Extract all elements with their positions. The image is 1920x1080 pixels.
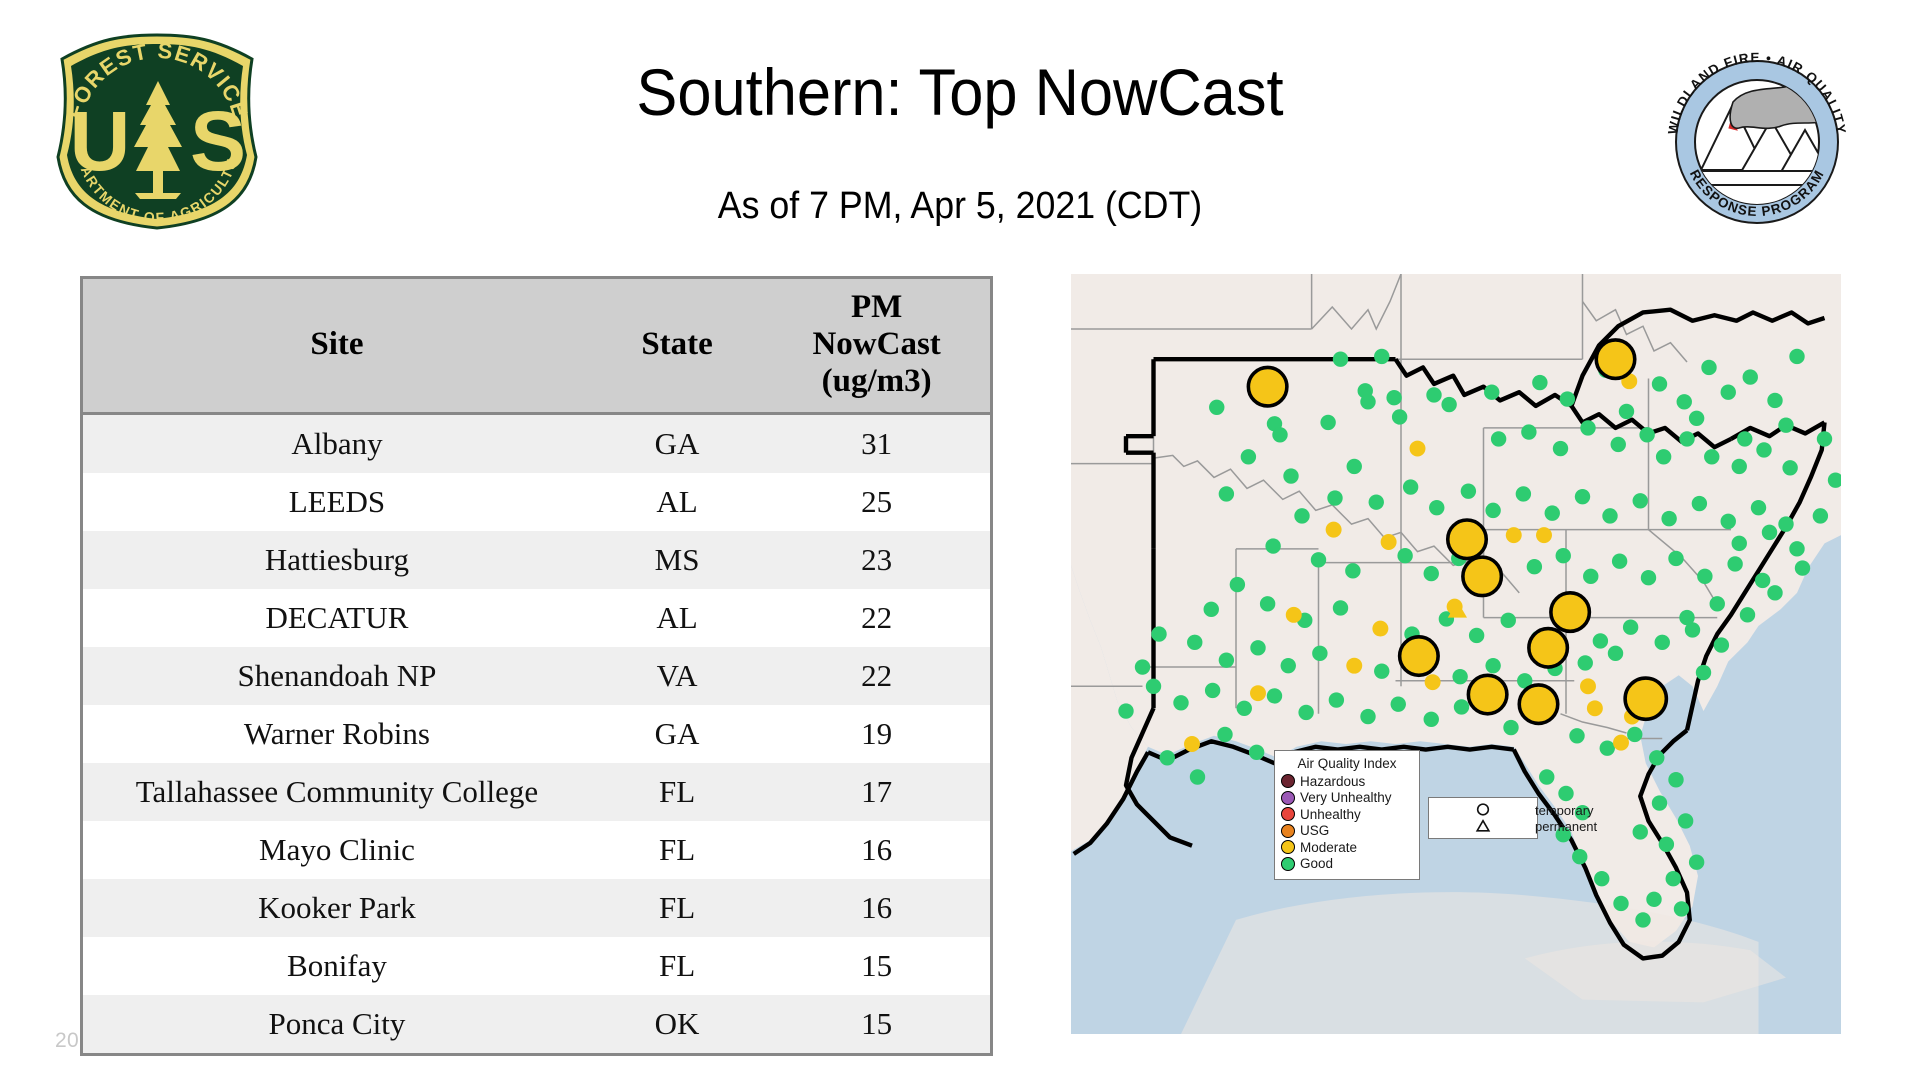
aqi-legend-items: HazardousVery UnhealthyUnhealthyUSGModer… (1281, 773, 1413, 872)
site-marker-good[interactable] (1187, 635, 1202, 650)
site-marker-good[interactable] (1689, 411, 1704, 426)
site-marker-good[interactable] (1569, 728, 1584, 743)
aqi-legend-label: Very Unhealthy (1300, 791, 1392, 805)
site-marker-good[interactable] (1298, 705, 1313, 720)
site-marker-good[interactable] (1241, 449, 1256, 464)
site-marker-good[interactable] (1391, 696, 1406, 711)
site-marker-good[interactable] (1692, 496, 1707, 511)
site-marker-top[interactable] (1519, 685, 1558, 723)
state-cell: FL (591, 937, 763, 995)
data-table: Site State PM NowCast (ug/m3) AlbanyGA31… (83, 279, 990, 1053)
state-cell: FL (591, 879, 763, 937)
site-marker-good[interactable] (1613, 896, 1628, 911)
table-body: AlbanyGA31LEEDSAL25HattiesburgMS23DECATU… (83, 413, 990, 1053)
site-marker-good[interactable] (1501, 613, 1516, 628)
legend-temporary: temporary (1434, 802, 1532, 818)
site-cell: DECATUR (83, 589, 591, 647)
site-marker-good[interactable] (1727, 556, 1742, 571)
site-marker-good[interactable] (1668, 772, 1683, 787)
aqi-legend-label: Moderate (1300, 841, 1357, 855)
site-marker-good[interactable] (1560, 391, 1575, 406)
site-marker-good[interactable] (1267, 688, 1282, 703)
aqi-legend-item: USG (1281, 823, 1413, 840)
site-marker-good[interactable] (1674, 901, 1689, 916)
site-marker-good[interactable] (1704, 449, 1719, 464)
site-marker-good[interactable] (1190, 769, 1205, 784)
site-marker-good[interactable] (1347, 459, 1362, 474)
pm-cell: 31 (763, 413, 990, 473)
site-marker-good[interactable] (1151, 626, 1166, 641)
site-marker-good[interactable] (1659, 837, 1674, 852)
wfaqrp-logo: WILDLAND FIRE • AIR QUALITY RESPONSE PRO… (1655, 42, 1860, 237)
site-marker-good[interactable] (1556, 548, 1571, 563)
state-cell: OK (591, 995, 763, 1053)
column-header-pm-nowcast[interactable]: PM NowCast (ug/m3) (763, 279, 990, 413)
site-marker-moderate[interactable] (1381, 534, 1397, 550)
site-marker-good[interactable] (1679, 610, 1694, 625)
pm-cell: 16 (763, 821, 990, 879)
site-marker-good[interactable] (1516, 486, 1531, 501)
site-marker-moderate[interactable] (1425, 674, 1441, 690)
site-marker-good[interactable] (1429, 500, 1444, 515)
site-marker-good[interactable] (1721, 384, 1736, 399)
column-header-state[interactable]: State (591, 279, 763, 413)
site-marker-moderate[interactable] (1286, 607, 1302, 623)
site-marker-good[interactable] (1646, 892, 1661, 907)
table-row[interactable]: Kooker ParkFL16 (83, 879, 990, 937)
aqi-legend-title: Air Quality Index (1281, 756, 1413, 771)
site-marker-moderate[interactable] (1184, 736, 1200, 752)
site-marker-good[interactable] (1677, 394, 1692, 409)
circle-icon (1434, 802, 1532, 818)
table-row[interactable]: HattiesburgMS23 (83, 531, 990, 589)
site-marker-good[interactable] (1265, 538, 1280, 553)
aqi-color-swatch (1281, 791, 1295, 805)
site-marker-good[interactable] (1743, 369, 1758, 384)
site-marker-good[interactable] (1452, 669, 1467, 684)
site-marker-good[interactable] (1737, 431, 1752, 446)
site-marker-good[interactable] (1602, 508, 1617, 523)
state-cell: FL (591, 821, 763, 879)
site-marker-good[interactable] (1594, 871, 1609, 886)
site-marker-moderate[interactable] (1536, 527, 1552, 543)
site-marker-good[interactable] (1173, 695, 1188, 710)
aqi-color-swatch (1281, 824, 1295, 838)
site-marker-good[interactable] (1369, 494, 1384, 509)
site-marker-good[interactable] (1652, 795, 1667, 810)
site-marker-moderate[interactable] (1587, 700, 1603, 716)
site-cell: Ponca City (83, 995, 591, 1053)
aqi-color-swatch (1281, 807, 1295, 821)
site-marker-moderate[interactable] (1326, 522, 1342, 538)
site-marker-top[interactable] (1468, 675, 1507, 713)
site-marker-good[interactable] (1627, 727, 1642, 742)
site-marker-good[interactable] (1623, 620, 1638, 635)
site-marker-top[interactable] (1448, 520, 1487, 558)
state-cell: GA (591, 413, 763, 473)
site-marker-good[interactable] (1767, 393, 1782, 408)
pm-cell: 17 (763, 763, 990, 821)
site-marker-top[interactable] (1625, 678, 1666, 719)
page-subtitle: As of 7 PM, Apr 5, 2021 (CDT) (452, 185, 1467, 228)
site-marker-good[interactable] (1294, 508, 1309, 523)
site-marker-moderate[interactable] (1346, 658, 1362, 674)
site-marker-good[interactable] (1329, 692, 1344, 707)
site-marker-top[interactable] (1463, 557, 1502, 595)
site-marker-good[interactable] (1633, 824, 1648, 839)
site-marker-good[interactable] (1641, 570, 1656, 585)
usfs-logo: FOREST SERVICE DEPARTMENT OF AGRICULTURE… (50, 25, 265, 235)
site-marker-good[interactable] (1386, 390, 1401, 405)
pm-cell: 15 (763, 937, 990, 995)
site-marker-good[interactable] (1146, 679, 1161, 694)
site-marker-good[interactable] (1572, 849, 1587, 864)
site-marker-good[interactable] (1333, 352, 1348, 367)
table-row[interactable]: Mayo ClinicFL16 (83, 821, 990, 879)
site-marker-good[interactable] (1503, 720, 1518, 735)
table-head: Site State PM NowCast (ug/m3) (83, 279, 990, 413)
site-marker-good[interactable] (1732, 536, 1747, 551)
site-marker-top[interactable] (1248, 367, 1287, 405)
site-marker-good[interactable] (1583, 569, 1598, 584)
aqi-legend-item: Moderate (1281, 839, 1413, 856)
site-marker-good[interactable] (1397, 548, 1412, 563)
top-nowcast-table: Site State PM NowCast (ug/m3) AlbanyGA31… (80, 276, 993, 1056)
site-marker-good[interactable] (1539, 769, 1554, 784)
site-marker-good[interactable] (1260, 596, 1275, 611)
site-marker-good[interactable] (1652, 376, 1667, 391)
triangle-icon (1434, 818, 1532, 834)
site-marker-good[interactable] (1678, 813, 1693, 828)
site-marker-good[interactable] (1311, 552, 1326, 567)
site-marker-good[interactable] (1767, 585, 1782, 600)
site-marker-good[interactable] (1575, 489, 1590, 504)
letter-s: S (190, 94, 246, 188)
site-marker-good[interactable] (1320, 415, 1335, 430)
site-marker-good[interactable] (1491, 431, 1506, 446)
site-cell: Warner Robins (83, 705, 591, 763)
aqi-legend-item: Hazardous (1281, 773, 1413, 790)
site-marker-good[interactable] (1424, 712, 1439, 727)
site-marker-good[interactable] (1756, 442, 1771, 457)
pm-cell: 25 (763, 473, 990, 531)
pm-cell: 15 (763, 995, 990, 1053)
site-marker-good[interactable] (1345, 563, 1360, 578)
pm-cell: 22 (763, 647, 990, 705)
site-marker-good[interactable] (1696, 665, 1711, 680)
table-row[interactable]: Shenandoah NPVA22 (83, 647, 990, 705)
site-cell: LEEDS (83, 473, 591, 531)
site-marker-good[interactable] (1426, 387, 1441, 402)
site-marker-good[interactable] (1611, 437, 1626, 452)
pm-cell: 23 (763, 531, 990, 589)
site-marker-good[interactable] (1532, 375, 1547, 390)
aqi-legend-label: Unhealthy (1300, 808, 1361, 822)
aqi-map[interactable]: Air Quality Index HazardousVery Unhealth… (1071, 274, 1841, 1034)
site-marker-good[interactable] (1230, 577, 1245, 592)
site-marker-good[interactable] (1360, 709, 1375, 724)
site-marker-good[interactable] (1360, 394, 1375, 409)
site-marker-good[interactable] (1135, 659, 1150, 674)
state-cell: AL (591, 589, 763, 647)
site-marker-good[interactable] (1789, 349, 1804, 364)
site-marker-good[interactable] (1219, 486, 1234, 501)
letter-u: U (70, 94, 131, 188)
pm-cell: 22 (763, 589, 990, 647)
site-marker-moderate[interactable] (1580, 678, 1596, 694)
site-marker-good[interactable] (1374, 349, 1389, 364)
site-cell: Albany (83, 413, 591, 473)
site-marker-good[interactable] (1593, 633, 1608, 648)
table-row[interactable]: LEEDSAL25 (83, 473, 990, 531)
site-marker-good[interactable] (1778, 417, 1793, 432)
site-cell: Shenandoah NP (83, 647, 591, 705)
site-marker-good[interactable] (1782, 460, 1797, 475)
pm-cell: 16 (763, 879, 990, 937)
site-marker-good[interactable] (1635, 912, 1650, 927)
site-marker-good[interactable] (1656, 449, 1671, 464)
legend-permanent-label: permanent (1535, 820, 1597, 833)
site-marker-good[interactable] (1469, 628, 1484, 643)
aqi-legend-label: Good (1300, 857, 1333, 871)
site-marker-good[interactable] (1312, 646, 1327, 661)
site-marker-good[interactable] (1600, 740, 1615, 755)
aqi-color-swatch (1281, 840, 1295, 854)
site-marker-good[interactable] (1461, 483, 1476, 498)
site-marker-good[interactable] (1714, 637, 1729, 652)
site-marker-moderate[interactable] (1250, 685, 1266, 701)
site-marker-good[interactable] (1580, 420, 1595, 435)
site-marker-good[interactable] (1118, 703, 1133, 718)
aqi-color-swatch (1281, 774, 1295, 788)
site-marker-good[interactable] (1732, 459, 1747, 474)
aqi-legend-item: Good (1281, 856, 1413, 873)
column-header-site[interactable]: Site (83, 279, 591, 413)
site-marker-good[interactable] (1701, 360, 1716, 375)
table-row[interactable]: AlbanyGA31 (83, 413, 990, 473)
site-marker-top[interactable] (1400, 637, 1439, 675)
site-marker-good[interactable] (1283, 468, 1298, 483)
site-marker-good[interactable] (1813, 508, 1828, 523)
site-marker-good[interactable] (1778, 516, 1793, 531)
aqi-legend-label: USG (1300, 824, 1329, 838)
aqi-legend-item: Unhealthy (1281, 806, 1413, 823)
pm-cell: 19 (763, 705, 990, 763)
site-marker-top[interactable] (1529, 629, 1568, 667)
site-marker-good[interactable] (1668, 551, 1683, 566)
site-marker-good[interactable] (1553, 441, 1568, 456)
site-marker-good[interactable] (1639, 427, 1654, 442)
site-marker-good[interactable] (1485, 658, 1500, 673)
site-marker-good[interactable] (1751, 500, 1766, 515)
site-marker-good[interactable] (1666, 871, 1681, 886)
state-cell: FL (591, 763, 763, 821)
site-marker-good[interactable] (1217, 727, 1232, 742)
site-marker-good[interactable] (1679, 431, 1694, 446)
aqi-legend-label: Hazardous (1300, 775, 1365, 789)
state-cell: AL (591, 473, 763, 531)
site-marker-good[interactable] (1392, 409, 1407, 424)
site-marker-moderate[interactable] (1506, 527, 1522, 543)
site-marker-good[interactable] (1789, 541, 1804, 556)
state-cell: VA (591, 647, 763, 705)
site-marker-good[interactable] (1817, 431, 1832, 446)
site-cell: Mayo Clinic (83, 821, 591, 879)
site-marker-good[interactable] (1160, 750, 1175, 765)
site-marker-good[interactable] (1485, 503, 1500, 518)
site-marker-moderate[interactable] (1372, 621, 1388, 637)
table-row[interactable]: Warner RobinsGA19 (83, 705, 990, 763)
site-cell: Bonifay (83, 937, 591, 995)
aqi-color-swatch (1281, 857, 1295, 871)
site-marker-good[interactable] (1281, 658, 1296, 673)
site-marker-good[interactable] (1249, 745, 1264, 760)
aqi-legend: Air Quality Index HazardousVery Unhealth… (1274, 750, 1420, 880)
site-cell: Tallahassee Community College (83, 763, 591, 821)
site-marker-good[interactable] (1250, 640, 1265, 655)
site-marker-good[interactable] (1441, 397, 1456, 412)
site-marker-good[interactable] (1795, 560, 1810, 575)
table-row[interactable]: Ponca CityOK15 (83, 995, 990, 1053)
legend-permanent: permanent (1434, 818, 1532, 834)
table-row[interactable]: DECATURAL22 (83, 589, 990, 647)
table-row[interactable]: Tallahassee Community CollegeFL17 (83, 763, 990, 821)
site-marker-good[interactable] (1484, 384, 1499, 399)
site-marker-good[interactable] (1205, 683, 1220, 698)
site-marker-good[interactable] (1633, 493, 1648, 508)
site-marker-good[interactable] (1333, 600, 1348, 615)
table-row[interactable]: BonifayFL15 (83, 937, 990, 995)
site-marker-good[interactable] (1697, 569, 1712, 584)
site-marker-good[interactable] (1219, 652, 1234, 667)
site-marker-good[interactable] (1619, 404, 1634, 419)
site-marker-good[interactable] (1608, 646, 1623, 661)
site-marker-good[interactable] (1272, 427, 1287, 442)
legend-temporary-label: temporary (1535, 804, 1594, 817)
site-marker-good[interactable] (1661, 511, 1676, 526)
site-marker-good[interactable] (1209, 400, 1224, 415)
site-marker-good[interactable] (1721, 514, 1736, 529)
state-cell: MS (591, 531, 763, 589)
site-marker-good[interactable] (1755, 573, 1770, 588)
aqi-legend-item: Very Unhealthy (1281, 790, 1413, 807)
site-marker-good[interactable] (1762, 525, 1777, 540)
site-marker-top[interactable] (1596, 340, 1635, 378)
site-marker-good[interactable] (1327, 490, 1342, 505)
site-marker-good[interactable] (1424, 566, 1439, 581)
site-marker-moderate[interactable] (1410, 441, 1426, 457)
site-marker-good[interactable] (1454, 699, 1469, 714)
site-marker-moderate[interactable] (1613, 735, 1629, 751)
site-marker-top[interactable] (1551, 593, 1590, 631)
site-marker-good[interactable] (1403, 479, 1418, 494)
site-marker-good[interactable] (1527, 559, 1542, 574)
site-marker-good[interactable] (1649, 750, 1664, 765)
site-cell: Kooker Park (83, 879, 591, 937)
site-marker-good[interactable] (1710, 596, 1725, 611)
site-marker-good[interactable] (1374, 663, 1389, 678)
site-marker-good[interactable] (1578, 655, 1593, 670)
site-marker-good[interactable] (1204, 602, 1219, 617)
site-marker-good[interactable] (1521, 424, 1536, 439)
site-marker-good[interactable] (1545, 505, 1560, 520)
site-type-legend: temporary permanent (1428, 797, 1538, 839)
site-marker-good[interactable] (1740, 607, 1755, 622)
site-marker-good[interactable] (1558, 786, 1573, 801)
table-header-row: Site State PM NowCast (ug/m3) (83, 279, 990, 413)
site-marker-good[interactable] (1237, 701, 1252, 716)
site-cell: Hattiesburg (83, 531, 591, 589)
site-marker-good[interactable] (1655, 635, 1670, 650)
site-marker-good[interactable] (1689, 855, 1704, 870)
site-marker-good[interactable] (1612, 554, 1627, 569)
state-cell: GA (591, 705, 763, 763)
page-title: Southern: Top NowCast (458, 58, 1462, 127)
